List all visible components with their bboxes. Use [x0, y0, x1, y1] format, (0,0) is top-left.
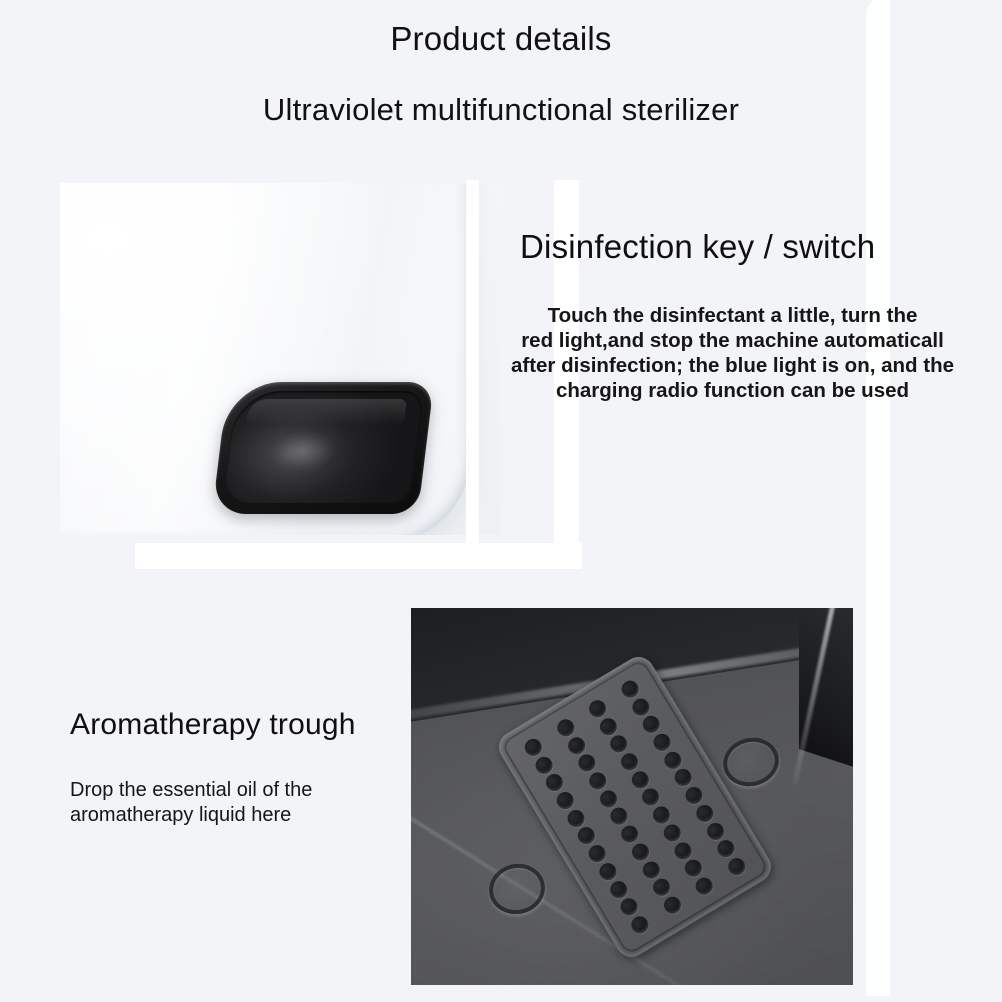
description-line: charging radio function can be used [470, 378, 995, 403]
aromatherapy-trough-photo [411, 608, 853, 985]
aromatherapy-hole [586, 697, 609, 720]
aromatherapy-hole [650, 731, 673, 754]
page-title: Product details [0, 20, 1002, 58]
right-edge-panel [866, 0, 892, 996]
aromatherapy-hole [596, 860, 619, 883]
aromatherapy-hole [554, 716, 577, 739]
description-line: after disinfection; the blue light is on… [470, 353, 995, 378]
description-line: Touch the disinfectant a little, turn th… [470, 303, 995, 328]
aromatherapy-hole [586, 769, 609, 792]
aromatherapy-hole [618, 678, 641, 701]
right-edge-background [890, 0, 1002, 1002]
aromatherapy-hole [661, 821, 684, 844]
decor-horizontal-strip [135, 543, 582, 569]
aromatherapy-hole [618, 750, 641, 773]
disinfection-key-gloss [246, 399, 407, 425]
disinfection-key-button[interactable] [212, 382, 434, 514]
product-details-page: Product details Ultraviolet multifunctio… [0, 0, 1002, 1002]
disinfection-key-description: Touch the disinfectant a little, turn th… [470, 303, 995, 403]
description-line: red light,and stop the machine automatic… [470, 328, 995, 353]
aromatherapy-trough-description: Drop the essential oil of the aromathera… [70, 778, 400, 827]
description-line: aromatherapy liquid here [70, 803, 400, 828]
disinfection-key-indicator-glow [268, 431, 337, 471]
page-subtitle: Ultraviolet multifunctional sterilizer [0, 92, 1002, 128]
aromatherapy-hole [522, 735, 545, 758]
disinfection-key-photo [60, 183, 500, 535]
aromatherapy-hole [629, 841, 652, 864]
aromatherapy-hole [607, 732, 630, 755]
aromatherapy-hole [693, 802, 716, 825]
description-line: Drop the essential oil of the [70, 778, 400, 803]
aromatherapy-hole [554, 789, 577, 812]
disinfection-key-heading: Disinfection key / switch [520, 228, 950, 266]
aromatherapy-hole [586, 842, 609, 865]
aromatherapy-hole [650, 803, 673, 826]
disinfection-key-surface [222, 391, 424, 503]
